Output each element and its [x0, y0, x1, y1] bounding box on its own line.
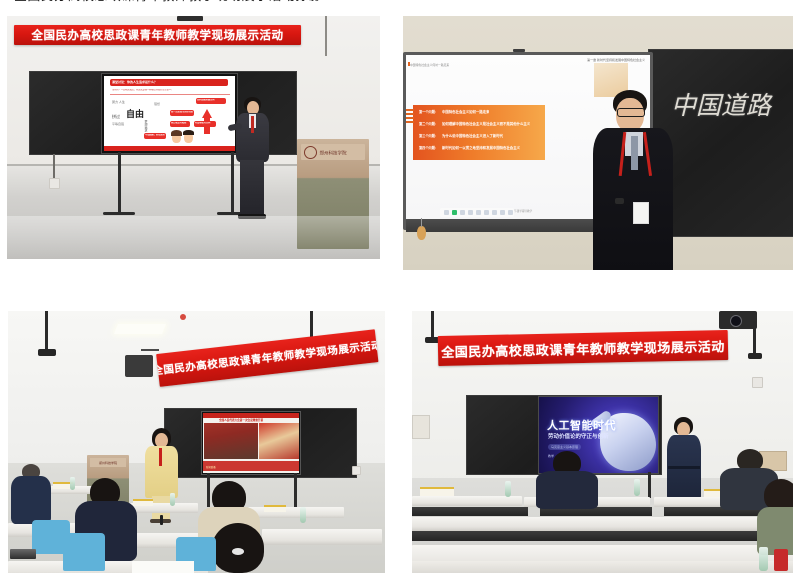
camera-lens-icon — [730, 315, 742, 327]
event-banner-text: 全国民办高校思政课青年教师教学现场展示活动 — [441, 336, 725, 361]
news-photo-left — [204, 423, 258, 459]
presenter-tie — [631, 136, 638, 170]
teacher-belt — [668, 466, 700, 469]
presenter-badge — [633, 202, 649, 224]
camera-head-right — [748, 353, 762, 359]
side-panel-left — [412, 415, 430, 439]
display-foot-left — [103, 212, 135, 215]
plush-toy-string — [421, 218, 422, 227]
slide-line-4-text: 新时代如何一以贯之地坚持和发展中国特色社会主义 — [442, 145, 520, 150]
camera-head-left — [38, 349, 56, 356]
slide-corner-label: 中国特色社会主义何时一路走来 — [410, 63, 449, 67]
event-banner-text: 全国民办高校思政课青年教师教学现场展示活动 — [32, 27, 284, 43]
wall-outlet — [352, 466, 361, 475]
wb-icon-pen[interactable] — [452, 210, 457, 215]
display-stand-left — [207, 473, 210, 507]
slide-line-3-label: 第三个问题: — [419, 133, 436, 138]
slide-corner-tab — [408, 62, 410, 66]
wb-icon-settings[interactable] — [500, 210, 505, 215]
slide-footer-text: 节课学辅导教学 — [514, 209, 532, 213]
presenter-glasses-icon — [617, 108, 645, 117]
interactive-display[interactable]: 课堂讨论：你的人生追求是什么？ 当你的个人目标实现后，你觉这是哪一种能给你我的生… — [101, 73, 238, 154]
desk-microphone[interactable] — [160, 515, 163, 525]
slide-bubble-4: 不怕困难，勇往直前 — [145, 134, 165, 137]
slide-callout-text: 共同富裕道路方向 — [197, 99, 225, 102]
photo-bottom-right[interactable]: 全国民办高校思政课青年教师教学现场展示活动 人工智能时代 劳动价值论的守正与创新… — [412, 311, 793, 573]
slide-line-1-text: 中国特色社会主义如何一路走来 — [442, 109, 489, 114]
photo-bottom-left[interactable]: 全国民办高校思政课青年教师教学现场展示活动 全国人民代表大会第一次会议隆重开幕 … — [8, 311, 385, 573]
event-banner: 全国民办高校思政课青年教师教学现场展示活动 — [14, 25, 301, 45]
floor-cable — [53, 154, 55, 180]
presenter-clicker — [615, 198, 624, 204]
attendee-4-hairclip-icon — [232, 548, 244, 555]
teacher-lanyard — [159, 448, 162, 466]
display-stand-right — [294, 473, 297, 507]
smartboard-topcam-icon — [513, 49, 525, 52]
attendee-1-body — [536, 471, 598, 509]
slide-subtitle: 当你的个人目标实现后，你觉这是哪一种能给你我的生命意义？ — [112, 89, 230, 92]
phone-device[interactable] — [774, 549, 788, 571]
laptop-device[interactable] — [10, 549, 36, 559]
floor-reflection — [7, 216, 380, 259]
wb-icon-more[interactable] — [508, 210, 513, 215]
wall-outlet — [752, 377, 763, 388]
desk-row-front-right — [262, 529, 382, 545]
whiteboard-toolbar[interactable] — [440, 208, 514, 217]
chalkboard-writing: 中国道路 — [671, 86, 771, 122]
slide-line-3-text: 为什么说中国特色社会主义进入了新时代 — [442, 133, 503, 138]
event-banner: 全国民办高校思政课青年教师教学现场展示活动 — [438, 330, 729, 366]
lectern-nameplate: 郑州科技学院 — [90, 458, 126, 467]
display-stand-right — [231, 152, 234, 214]
desk-row-mid-right — [248, 507, 344, 518]
paper-stack — [132, 561, 194, 573]
slide-line-2-label: 第二个问题: — [419, 121, 436, 126]
slide-left-accent — [406, 109, 414, 123]
plush-toy — [417, 226, 426, 240]
slide-title: 人工智能时代 — [547, 417, 616, 433]
wall-outlet — [49, 178, 60, 189]
photo-top-right[interactable]: 中国道路 第一章 新时代坚持和发展中国特色社会主义 中国特色社会主义何时一路走来… — [403, 16, 793, 270]
news-headline: 全国人民代表大会第一次会议隆重开幕 — [219, 418, 263, 422]
water-bottle-1 — [70, 477, 75, 490]
page-top-caption: 全国民办高校思政课青年教师教学现场展示活动掠影 — [14, 0, 784, 3]
presenter-legs — [240, 160, 264, 216]
slide-bubble-1: 我一定能成为更好的我 — [171, 111, 193, 114]
water-bottle-1 — [505, 481, 511, 497]
news-ticker-text: 新闻联播 — [206, 465, 216, 469]
slide-line-2-text: 如何理解中国特色社会主义是社会主义而不是其他什么主义 — [442, 121, 530, 126]
wb-icon-image[interactable] — [484, 210, 489, 215]
water-bottle-3 — [759, 547, 768, 571]
water-bottle-2 — [170, 493, 175, 506]
presenter-tie — [251, 116, 254, 133]
wall-speaker — [125, 355, 153, 377]
slide-footer-band — [104, 146, 235, 151]
slide-bubble-3: 有目标就有方向 — [195, 122, 215, 125]
slide-line-1-label: 第一个问题: — [419, 109, 436, 114]
photo-top-left[interactable]: 全国民办高校思政课青年教师教学现场展示活动 课堂讨论：你的人生追求是什么？ 当你… — [7, 16, 380, 259]
slide-figure-boy-hair — [183, 130, 194, 135]
camera-arm-right — [753, 321, 756, 355]
slide-up-arrow — [202, 109, 212, 118]
slide-line-4-label: 第四个问题: — [419, 145, 436, 150]
news-photo-right — [259, 423, 299, 459]
slide-bubble-2: 努力就会有收获 — [171, 122, 189, 125]
desk-row-4 — [412, 517, 793, 531]
desk-monitor-row-4 — [412, 531, 793, 541]
ceiling-light — [114, 324, 166, 334]
lectern-nameplate-text: 郑州科技学院 — [99, 460, 117, 465]
chair-2[interactable] — [63, 533, 105, 571]
desk-monitor-row-1 — [412, 507, 528, 516]
attendee-1-body — [11, 476, 51, 524]
lectern-nameplate-text: 郑州科技学院 — [319, 149, 346, 156]
camera-arm-left — [431, 311, 434, 339]
wb-icon-text[interactable] — [492, 210, 497, 215]
ceiling-fixture — [177, 16, 203, 21]
presentation-slide: 课堂讨论：你的人生追求是什么？ 当你的个人目标实现后，你觉这是哪一种能给你我的生… — [104, 76, 235, 151]
desk-nameplate-3 — [264, 505, 286, 512]
slide-subtitle: 劳动价值论的守正与创新 — [548, 432, 609, 440]
water-bottle-3 — [300, 507, 306, 523]
news-ticker-strip — [203, 461, 299, 471]
camera-cable — [325, 16, 327, 56]
slide-figure-girl-hair — [171, 130, 182, 136]
desk-nameplate-2 — [133, 499, 153, 506]
camera-arm-left — [45, 311, 48, 351]
ceiling-sensor-icon — [180, 314, 186, 320]
lectern-logo-icon — [304, 146, 317, 159]
wb-icon-menu[interactable] — [444, 210, 449, 215]
slide-title: 课堂讨论：你的人生追求是什么？ — [112, 80, 226, 84]
news-slide: 全国人民代表大会第一次会议隆重开幕 新闻联播 — [203, 413, 299, 473]
display-stand-right — [648, 472, 651, 498]
wb-icon-page[interactable] — [476, 210, 481, 215]
speaker-antenna — [141, 349, 159, 351]
display-stand-left — [118, 152, 121, 214]
slide-header-text: 第一章 新时代坚持和发展中国特色社会主义 — [587, 58, 645, 62]
classroom-display[interactable]: 全国人民代表大会第一次会议隆重开幕 新闻联播 — [201, 411, 301, 475]
wb-icon-shapes[interactable] — [468, 210, 473, 215]
slide-byline: 马克思主义基本原理 — [548, 444, 581, 450]
water-bottle-2 — [634, 479, 640, 496]
desk-row-1 — [412, 496, 522, 506]
wb-icon-eraser[interactable] — [460, 210, 465, 215]
desk-front-edge — [412, 561, 793, 573]
